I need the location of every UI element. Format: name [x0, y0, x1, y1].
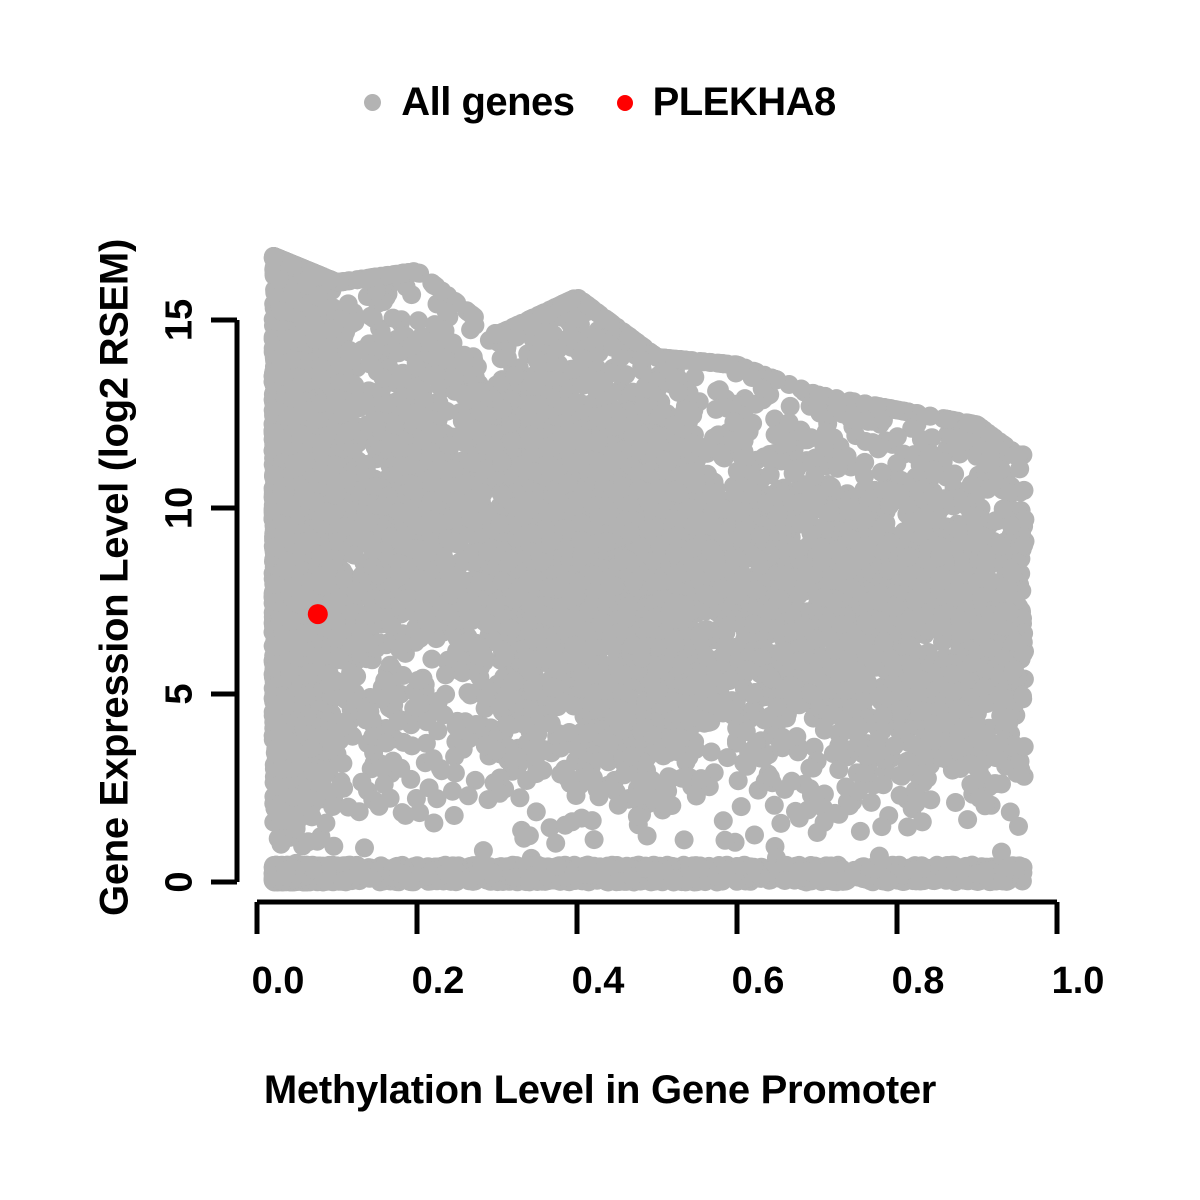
x-axis-line: [257, 902, 1057, 934]
x-tick-label-0.2: 0.2: [412, 960, 465, 1003]
y-axis-title: Gene Expression Level (log2 RSEM): [93, 168, 138, 988]
plot-canvas: [0, 0, 1200, 1200]
x-axis-title: Methylation Level in Gene Promoter: [0, 1068, 1200, 1113]
y-tick-label-10: 10: [159, 478, 202, 538]
x-tick-label-0.6: 0.6: [732, 960, 785, 1003]
y-tick-label-15: 15: [159, 290, 202, 350]
highlight-point-layer: [308, 604, 328, 624]
x-tick-label-1.0: 1.0: [1052, 960, 1105, 1003]
x-tick-label-0.8: 0.8: [892, 960, 945, 1003]
highlight-point-plekha8: [308, 604, 328, 624]
scatter-plot-figure: All genes PLEKHA8 15 10 5 0 0.0 0.2 0.4 …: [0, 0, 1200, 1200]
y-tick-label-5: 5: [159, 664, 202, 724]
x-tick-label-0.4: 0.4: [572, 960, 625, 1003]
y-axis-line: [211, 320, 237, 882]
y-tick-label-0: 0: [159, 852, 202, 912]
data-points-layer: [264, 247, 1035, 892]
x-tick-label-0.0: 0.0: [252, 960, 305, 1003]
